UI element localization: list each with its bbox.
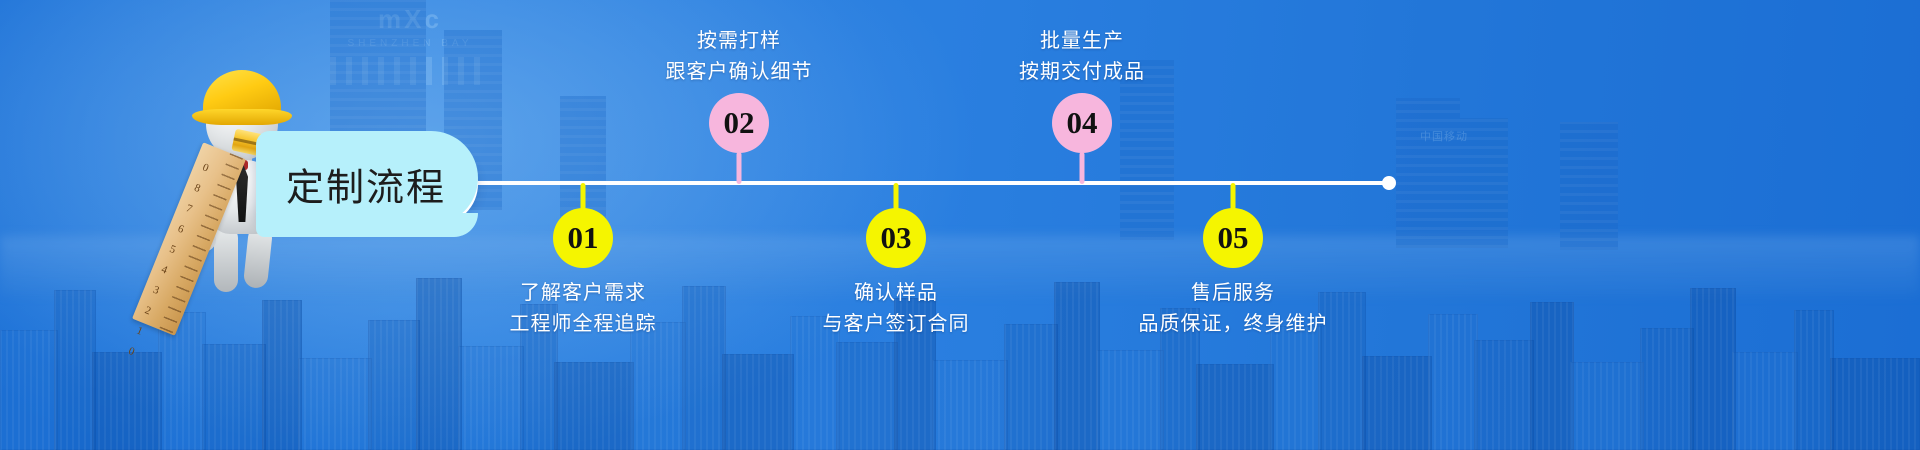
page-title: 定制流程 — [286, 157, 446, 212]
step-caption-line-primary: 按需打样 — [666, 25, 813, 56]
step-connector-stem — [581, 183, 586, 210]
step-caption-line-secondary: 按期交付成品 — [1019, 56, 1145, 87]
step-connector-stem — [1231, 183, 1236, 210]
step-caption-line-primary: 售后服务 — [1139, 277, 1328, 308]
step-connector-stem — [894, 183, 899, 210]
step-number-badge[interactable]: 04 — [1052, 93, 1112, 153]
step-caption: 售后服务品质保证，终身维护 — [1139, 277, 1328, 339]
step-caption-line-secondary: 工程师全程追踪 — [510, 308, 657, 339]
step-caption-line-secondary: 品质保证，终身维护 — [1139, 308, 1328, 339]
step-caption-line-secondary: 与客户签订合同 — [823, 308, 970, 339]
timeline-track — [470, 181, 1390, 185]
timeline-end-dot — [1382, 176, 1396, 190]
step-caption-line-primary: 批量生产 — [1019, 25, 1145, 56]
step-caption: 按需打样跟客户确认细节 — [666, 25, 813, 87]
step-caption-line-secondary: 跟客户确认细节 — [666, 56, 813, 87]
section-title-pill: 定制流程 — [256, 143, 478, 225]
step-caption-line-primary: 了解客户需求 — [510, 277, 657, 308]
step-caption: 确认样品与客户签订合同 — [823, 277, 970, 339]
step-caption-line-primary: 确认样品 — [823, 277, 970, 308]
step-number-badge[interactable]: 02 — [709, 93, 769, 153]
step-caption: 批量生产按期交付成品 — [1019, 25, 1145, 87]
step-number-badge[interactable]: 01 — [553, 208, 613, 268]
step-number-badge[interactable]: 03 — [866, 208, 926, 268]
step-caption: 了解客户需求工程师全程追踪 — [510, 277, 657, 339]
step-connector-stem — [737, 152, 742, 184]
step-connector-stem — [1080, 152, 1085, 184]
custom-process-banner: mXc SHENZHEN BAY 中国移动 0876543210 定制流程 — [0, 0, 1920, 450]
step-number-badge[interactable]: 05 — [1203, 208, 1263, 268]
